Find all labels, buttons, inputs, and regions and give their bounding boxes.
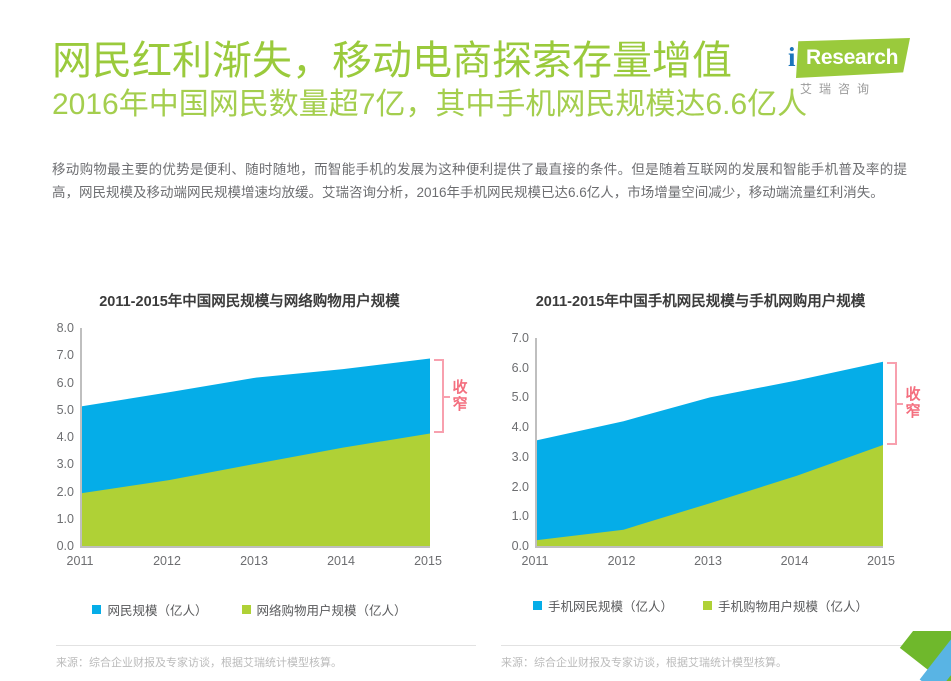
y-tick-label: 6.0 [512,361,529,375]
intro-paragraph: 移动购物最主要的优势是便利、随时随地，而智能手机的发展为这种便利提供了最直接的条… [52,158,907,204]
chart-title-right: 2011-2015年中国手机网民规模与手机网购用户规模 [473,290,928,311]
corner-decoration [877,631,951,681]
y-tick-label: 1.0 [512,509,529,523]
y-tick-label: 3.0 [57,457,74,471]
legend-swatch-icon [92,605,101,614]
x-axis-line-right [535,546,883,548]
x-tick-label: 2013 [240,554,268,568]
legend-left: 网民规模（亿人）网络购物用户规模（亿人） [22,600,477,619]
bracket-arm-top [887,362,896,364]
legend-item[interactable]: 网民规模（亿人） [92,600,207,619]
legend-item[interactable]: 手机购物用户规模（亿人） [703,596,868,615]
legend-label: 网民规模（亿人） [107,600,207,619]
iresearch-logo: i Research 艾瑞咨询 [780,38,910,98]
y-tick-label: 4.0 [57,430,74,444]
x-tick-label: 2014 [327,554,355,568]
x-tick-label: 2015 [414,554,442,568]
y-tick-label: 3.0 [512,450,529,464]
legend-right: 手机网民规模（亿人）手机购物用户规模（亿人） [473,596,928,615]
x-tick-label: 2011 [522,554,549,568]
legend-label: 手机购物用户规模（亿人） [718,596,868,615]
logo-research-text: Research [806,45,898,71]
legend-swatch-icon [533,601,542,610]
y-tick-label: 2.0 [512,480,529,494]
area-chart-svg-left [82,328,432,546]
y-tick-label: 7.0 [57,348,74,362]
y-tick-label: 0.0 [57,539,74,553]
y-tick-label: 5.0 [57,403,74,417]
x-axis-labels-right: 20112012201320142015 [535,554,883,576]
legend-swatch-icon [703,601,712,610]
x-axis-line-left [80,546,430,548]
legend-label: 手机网民规模（亿人） [548,596,673,615]
y-axis-labels-left: 8.07.06.05.04.03.02.01.00.0 [22,328,74,546]
y-tick-label: 6.0 [57,376,74,390]
y-tick-label: 5.0 [512,390,529,404]
bracket-arm-mid [896,403,903,405]
y-tick-label: 2.0 [57,485,74,499]
plot-area-right: 收窄 [535,338,883,546]
slide-page: 网民红利渐失，移动电商探索存量增值 2016年中国网民数量超7亿，其中手机网民规… [0,0,951,681]
y-tick-label: 8.0 [57,321,74,335]
area-chart-svg-right [537,338,885,546]
x-tick-label: 2013 [694,554,722,568]
bracket-arm-bottom [887,443,896,445]
bracket-arm-mid [443,396,450,398]
y-tick-label: 4.0 [512,420,529,434]
y-tick-label: 0.0 [512,539,529,553]
bracket-label-left: 收窄 [451,379,469,413]
chart-panel-left: 2011-2015年中国网民规模与网络购物用户规模 8.07.06.05.04.… [22,290,477,680]
x-tick-label: 2015 [867,554,895,568]
bracket-arm-top [434,359,443,361]
logo-i-letter: i [788,42,796,72]
y-tick-label: 7.0 [512,331,529,345]
legend-swatch-icon [242,605,251,614]
page-title: 网民红利渐失，移动电商探索存量增值 [52,38,732,84]
logo-chinese-text: 艾瑞咨询 [800,80,876,97]
bracket-label-right: 收窄 [904,386,922,420]
plot-area-left: 收窄 [80,328,430,546]
page-subtitle: 2016年中国网民数量超7亿，其中手机网民规模达6.6亿人 [52,86,807,124]
legend-label: 网络购物用户规模（亿人） [257,600,407,619]
legend-item[interactable]: 手机网民规模（亿人） [533,596,673,615]
y-axis-labels-right: 7.06.05.04.03.02.01.00.0 [473,338,529,546]
x-axis-labels-left: 20112012201320142015 [80,554,430,576]
bracket-arm-bottom [434,431,443,433]
source-note-left: 来源：综合企业财报及专家访谈，根据艾瑞统计模型核算。 [56,645,476,670]
x-tick-label: 2014 [781,554,809,568]
source-note-right: 来源：综合企业财报及专家访谈，根据艾瑞统计模型核算。 [501,645,921,670]
chart-panel-right: 2011-2015年中国手机网民规模与手机网购用户规模 7.06.05.04.0… [473,290,928,680]
x-tick-label: 2012 [608,554,636,568]
legend-item[interactable]: 网络购物用户规模（亿人） [242,600,407,619]
y-tick-label: 1.0 [57,512,74,526]
x-tick-label: 2011 [67,554,94,568]
chart-title-left: 2011-2015年中国网民规模与网络购物用户规模 [22,290,477,311]
x-tick-label: 2012 [153,554,181,568]
